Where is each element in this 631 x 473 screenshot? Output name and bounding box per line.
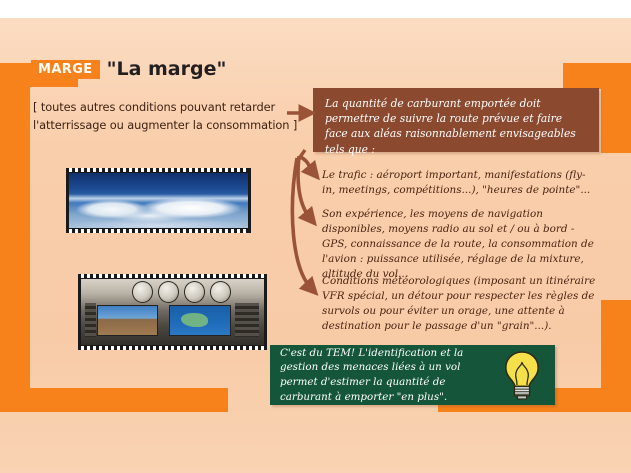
photo-clouds-image — [69, 173, 248, 228]
bracket-top-left-vertical — [0, 63, 30, 412]
multi-function-display — [169, 305, 231, 335]
marge-badge: MARGE — [31, 60, 100, 79]
bullet-paragraph-experience: Son expérience, les moyens de navigation… — [322, 207, 598, 282]
page-title: MARGE "La marge" — [31, 60, 226, 79]
cockpit-bezel-left — [85, 303, 96, 337]
primary-flight-display — [97, 305, 157, 335]
photo-cockpit — [78, 274, 267, 350]
cockpit-panel — [81, 279, 264, 345]
cockpit-gauges — [132, 283, 231, 301]
bracket-bottom-left-horizontal — [0, 388, 228, 412]
gauge-icon — [184, 281, 205, 303]
bracket-top-right-vertical — [601, 63, 631, 153]
sky-haze — [69, 194, 248, 203]
gauge-icon — [158, 281, 179, 303]
tem-note-box: C'est du TEM! L'identification et la ges… — [270, 345, 555, 405]
cockpit-bezel-right — [235, 303, 259, 337]
tem-note-text: C'est du TEM! L'identification et la ges… — [280, 346, 499, 404]
slide-root: MARGE "La marge" [ toutes autres conditi… — [0, 0, 631, 473]
gauge-icon — [132, 281, 153, 303]
bullet-paragraph-meteo: Conditions météorologiques (imposant un … — [322, 274, 598, 334]
lightbulb-icon — [499, 349, 545, 401]
gauge-icon — [210, 281, 231, 303]
photo-clouds — [66, 168, 251, 233]
lead-text: [ toutes autres conditions pouvant retar… — [33, 99, 303, 134]
photo-cockpit-image — [81, 279, 264, 345]
callout-box: La quantité de carburant emportée doit p… — [313, 88, 599, 152]
mfd-terrain-shape — [181, 313, 209, 328]
bullet-paragraph-trafic: Le trafic : aéroport important, manifest… — [322, 168, 598, 198]
marge-title-text: "La marge" — [107, 60, 227, 79]
